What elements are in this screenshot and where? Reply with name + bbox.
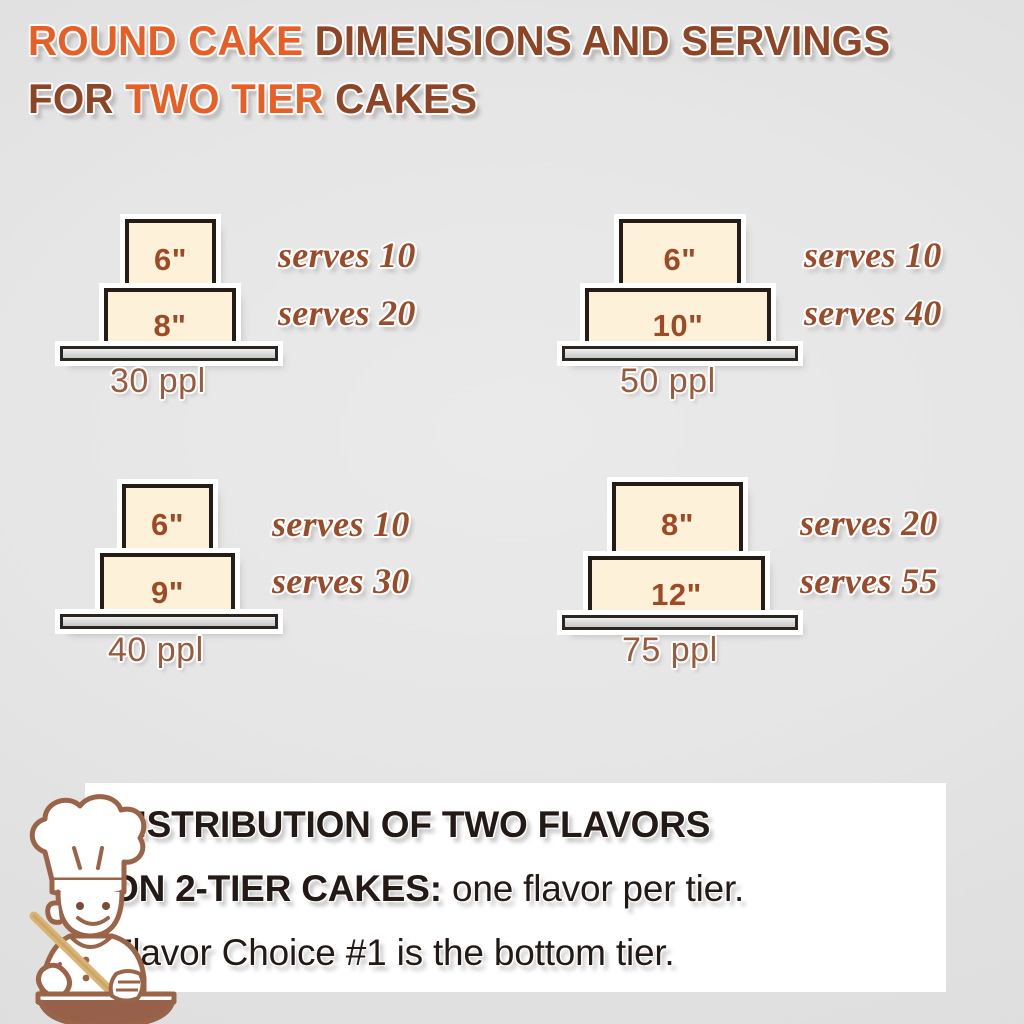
cake-top-tier-label: 6" [151,507,184,543]
cake-total-people: 40 ppl [108,631,204,670]
cake-top-tier: 6" [125,219,216,288]
cake-total-people: 50 ppl [620,362,716,401]
cake-top-tier: 6" [122,484,213,553]
serves-top-tier: serves 20 [800,502,938,544]
cake-plate [562,346,798,361]
cake-plate [60,346,278,361]
note-line-2-rest: one flavor per tier. [442,868,744,909]
note-line-2: ON 2-TIER CAKES: one flavor per tier. [110,857,950,921]
cake-plate [60,614,278,629]
serves-top-tier: serves 10 [278,234,416,276]
serves-top-tier: serves 10 [272,503,410,545]
note-text-block: DISTRIBUTION OF TWO FLAVORS ON 2-TIER CA… [110,783,950,985]
cake-bottom-tier: 8" [104,288,236,350]
cake-top-tier-label: 6" [664,242,697,278]
note-line-1: DISTRIBUTION OF TWO FLAVORS [110,793,950,857]
cake-bottom-tier: 10" [585,288,771,350]
cake-top-tier-label: 8" [661,507,694,543]
page-title: ROUND CAKE DIMENSIONS AND SERVINGS FOR T… [28,12,1008,128]
cake-bottom-tier-label: 12" [651,577,702,613]
title-line-2-prefix: FOR [28,75,125,122]
cake-total-people: 75 ppl [622,631,718,670]
cake-bottom-tier: 12" [588,556,765,619]
cake-bottom-tier-label: 10" [653,308,704,344]
cake-bottom-tier-label: 8" [154,308,187,344]
title-line-1-highlight: ROUND CAKE [28,17,303,64]
cake-total-people: 30 ppl [110,362,206,401]
title-line-1-rest: DIMENSIONS AND SERVINGS [303,17,890,64]
title-line-1: ROUND CAKE DIMENSIONS AND SERVINGS [28,12,969,70]
serves-bottom-tier: serves 20 [278,292,416,334]
cake-top-tier: 8" [612,482,743,556]
title-line-2-highlight: TWO TIER [125,75,324,122]
chef-baker-icon [12,788,202,1024]
title-line-2-suffix: CAKES [324,75,477,122]
infographic-poster: ROUND CAKE DIMENSIONS AND SERVINGS FOR T… [0,0,1024,1024]
cake-bottom-tier: 9" [100,553,235,618]
title-line-2: FOR TWO TIER CAKES [28,70,969,128]
cake-plate [562,615,798,630]
cake-top-tier-label: 6" [154,242,187,278]
serves-bottom-tier: serves 30 [272,560,410,602]
serves-bottom-tier: serves 55 [800,560,938,602]
serves-top-tier: serves 10 [804,234,942,276]
cake-top-tier: 6" [619,219,741,288]
serves-bottom-tier: serves 40 [804,292,942,334]
note-line-3: Flavor Choice #1 is the bottom tier. [110,921,950,985]
cake-bottom-tier-label: 9" [151,575,184,611]
